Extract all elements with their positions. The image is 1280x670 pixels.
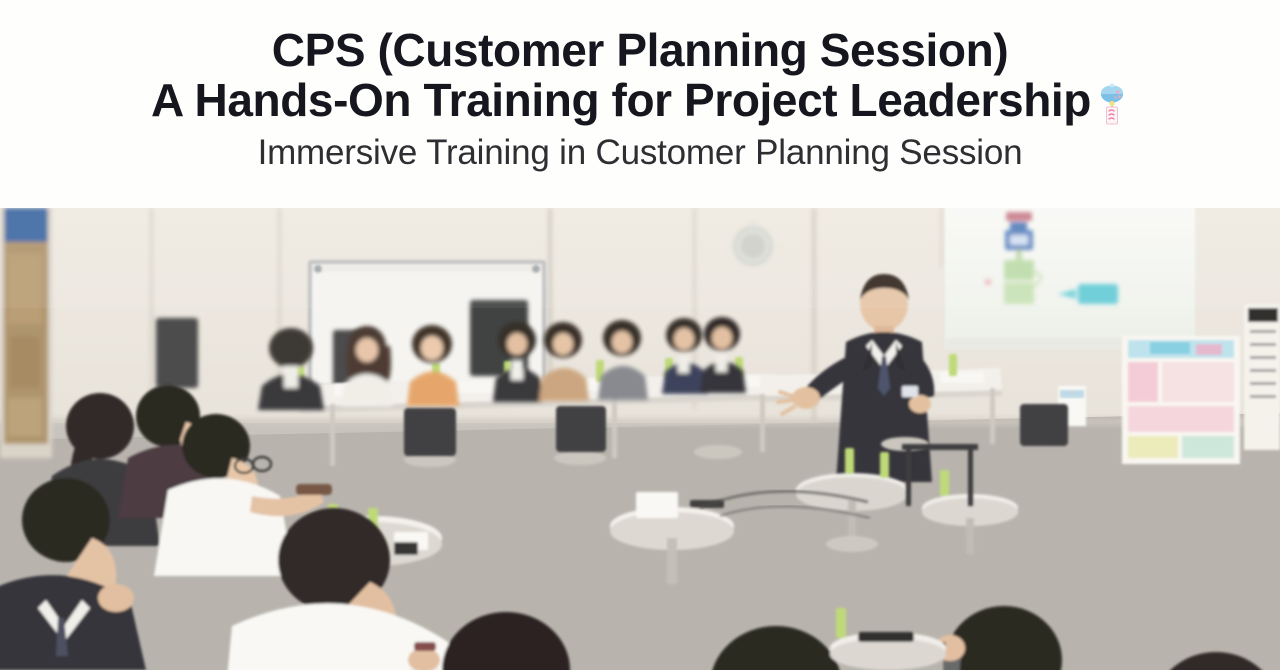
page-title-line-1: CPS (Customer Planning Session) — [272, 26, 1009, 76]
page-title-line-2-row: A Hands-On Training for Project Leadersh… — [151, 76, 1129, 126]
seminar-photo: Photograph of a corporate training semin… — [0, 208, 1280, 670]
page-title-line-2: A Hands-On Training for Project Leadersh… — [151, 76, 1091, 126]
wind-chime-icon — [1095, 81, 1129, 127]
page-subtitle: Immersive Training in Customer Planning … — [258, 133, 1023, 173]
title-block: CPS (Customer Planning Session) A Hands-… — [0, 0, 1280, 208]
article-header-banner: CPS (Customer Planning Session) A Hands-… — [0, 0, 1280, 670]
